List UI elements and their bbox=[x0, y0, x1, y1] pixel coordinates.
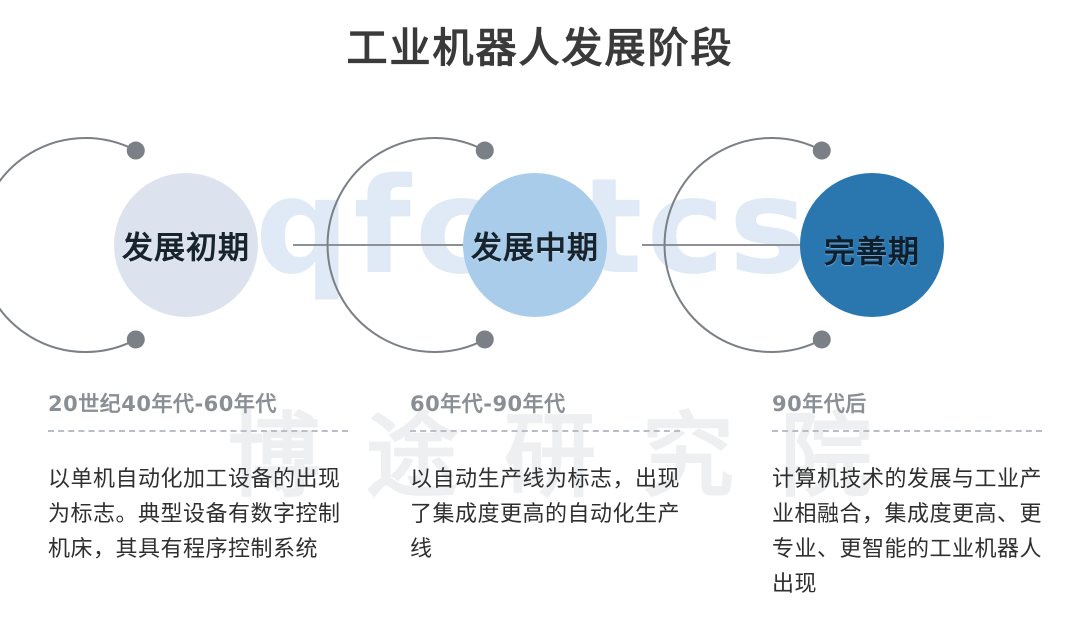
era-label-stage-3: 90年代后 bbox=[772, 388, 1042, 418]
orbit-dot-bottom-stage-2[interactable] bbox=[476, 330, 494, 348]
stage-column-3: 90年代后 计算机技术的发展与工业产业相融合，集成度更高、更专业、更智能的工业机… bbox=[772, 388, 1042, 602]
era-label-stage-2: 60年代-90年代 bbox=[410, 388, 680, 418]
orbit-dot-top-stage-2[interactable] bbox=[476, 142, 494, 160]
era-divider-2 bbox=[410, 430, 680, 432]
body-text-stage-1: 以单机自动化加工设备的出现为标志。典型设备有数字控制机床，其具有程序控制系统 bbox=[48, 462, 348, 567]
era-divider-1 bbox=[48, 430, 348, 432]
infographic-canvas: qfcctcs 博途研究院 工业机器人发展阶段 发展初期 发展中期 完善期 20… bbox=[0, 0, 1080, 632]
node-label-stage-2[interactable]: 发展中期 bbox=[471, 223, 599, 268]
orbit-dot-top-stage-1[interactable] bbox=[127, 142, 145, 160]
node-label-stage-1[interactable]: 发展初期 bbox=[122, 223, 250, 268]
orbit-dot-top-stage-3[interactable] bbox=[813, 142, 831, 160]
body-text-stage-2: 以自动生产线为标志，出现了集成度更高的自动化生产线 bbox=[410, 462, 680, 567]
orbit-dot-bottom-stage-1[interactable] bbox=[127, 330, 145, 348]
stage-column-2: 60年代-90年代 以自动生产线为标志，出现了集成度更高的自动化生产线 bbox=[410, 388, 680, 567]
era-label-stage-1: 20世纪40年代-60年代 bbox=[48, 388, 348, 418]
orbit-dot-bottom-stage-3[interactable] bbox=[813, 330, 831, 348]
body-text-stage-3: 计算机技术的发展与工业产业相融合，集成度更高、更专业、更智能的工业机器人出现 bbox=[772, 462, 1042, 602]
node-label-stage-3[interactable]: 完善期 bbox=[824, 227, 920, 272]
stage-column-1: 20世纪40年代-60年代 以单机自动化加工设备的出现为标志。典型设备有数字控制… bbox=[48, 388, 348, 567]
era-divider-3 bbox=[772, 430, 1042, 432]
page-title: 工业机器人发展阶段 bbox=[0, 14, 1080, 74]
